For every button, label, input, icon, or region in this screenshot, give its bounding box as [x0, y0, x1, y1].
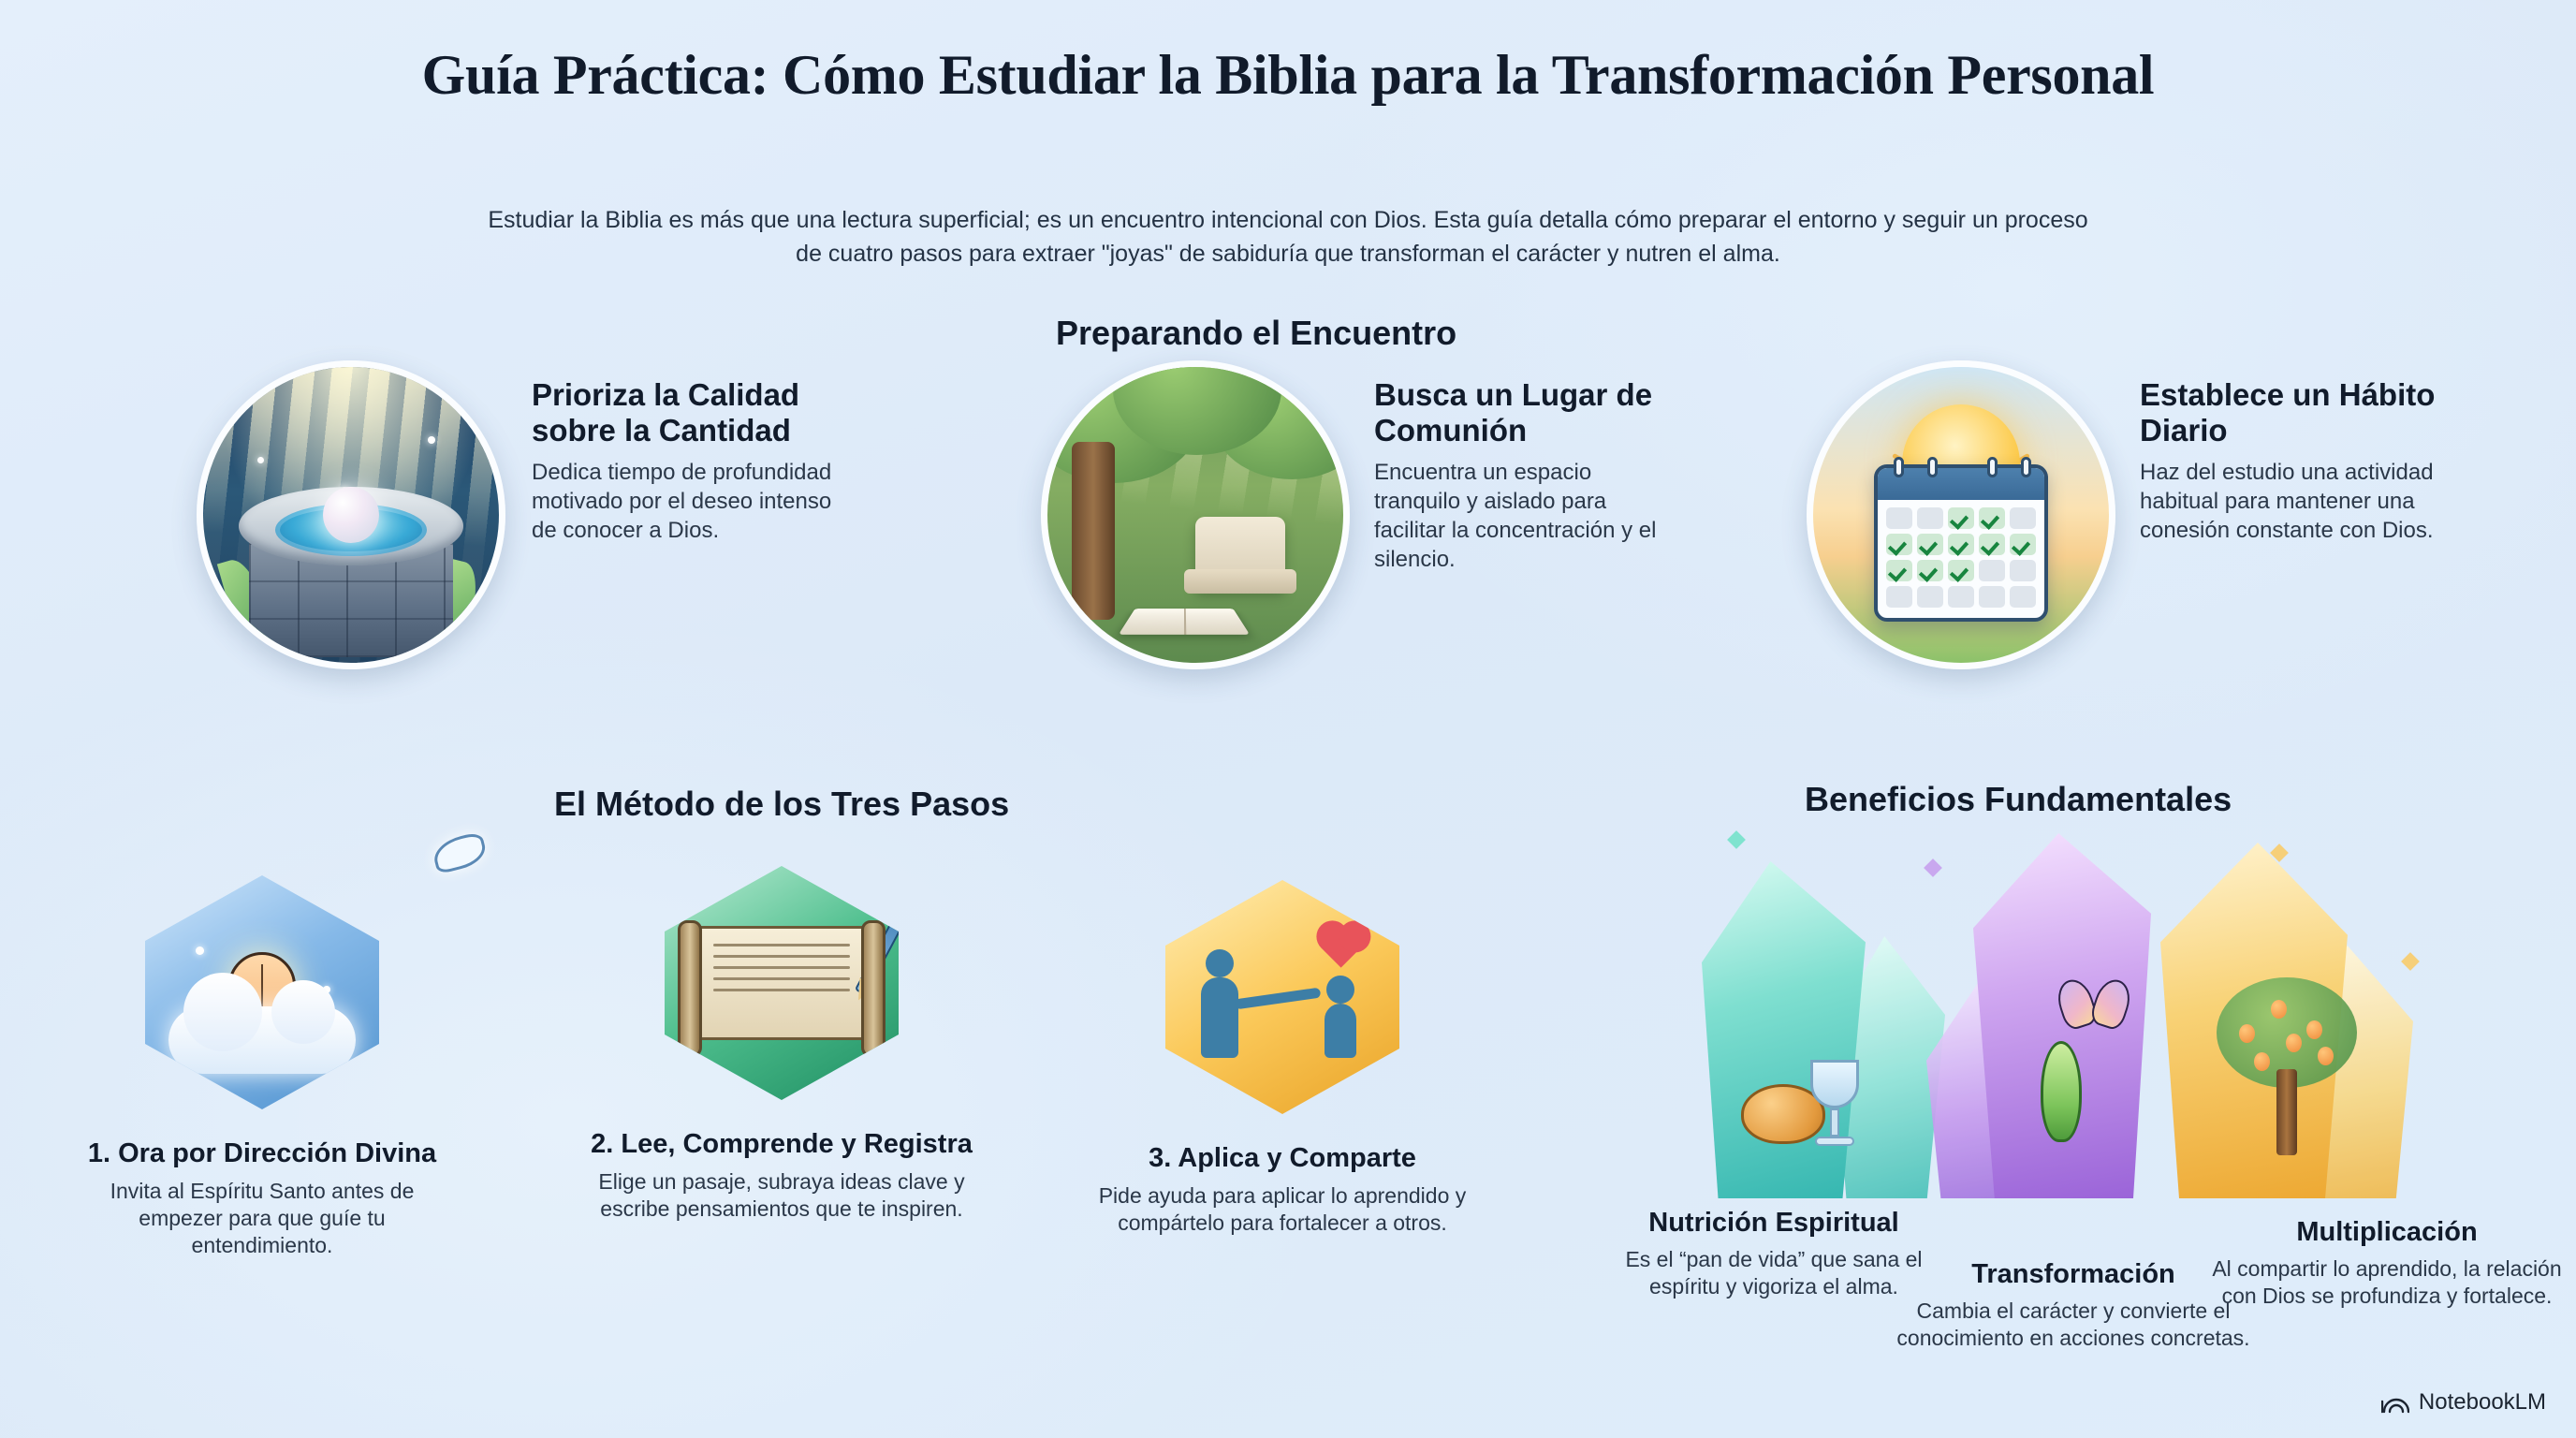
benefit-heading: Multiplicación [2209, 1217, 2565, 1249]
section-heading-preparation: Preparando el Encuentro [1056, 314, 1456, 353]
benefits-crystal-cluster-illustration [1692, 824, 2497, 1198]
praying-hands-dove-gem-icon [66, 852, 459, 1133]
method-step-1: 1. Ora por Dirección Divina Invita al Es… [66, 852, 459, 1259]
chrysalis-icon [2041, 1041, 2082, 1142]
preparation-card-habit: Establece un Hábito Diario Haz del estud… [1807, 360, 2458, 669]
notebooklm-watermark: NotebookLM [2381, 1389, 2546, 1416]
notebooklm-logo-icon [2381, 1390, 2409, 1415]
well-with-pearl-illustration [197, 360, 505, 669]
benefit-body: Cambia el carácter y convierte el conoci… [1891, 1298, 2256, 1352]
chalice-icon [1810, 1060, 1859, 1150]
card-body: Encuentra un espacio tranquilo y aislado… [1374, 458, 1674, 575]
step-body: Elige un pasaje, subraya ideas clave y e… [585, 1168, 978, 1223]
method-step-2: 2. Lee, Comprende y Registra Elige un pa… [585, 843, 978, 1223]
infographic-page: Guía Práctica: Cómo Estudiar la Biblia p… [0, 0, 2576, 1438]
benefit-transformacion: Transformación Cambia el carácter y conv… [1891, 1259, 2256, 1352]
page-subtitle: Estudiar la Biblia es más que una lectur… [483, 204, 2093, 271]
method-step-3: 3. Aplica y Comparte Pide ayuda para apl… [1086, 857, 1479, 1237]
section-heading-method: El Método de los Tres Pasos [554, 785, 1009, 824]
card-heading: Establece un Hábito Diario [2140, 377, 2458, 449]
card-heading: Busca un Lugar de Comunión [1374, 377, 1674, 449]
forest-chair-with-book-illustration [1041, 360, 1350, 669]
step-heading: 3. Aplica y Comparte [1086, 1143, 1479, 1175]
scroll-with-pen-gem-icon [585, 843, 978, 1123]
benefit-body: Al compartir lo aprendido, la relación c… [2209, 1255, 2565, 1310]
page-title: Guía Práctica: Cómo Estudiar la Biblia p… [0, 43, 2576, 108]
benefit-heading: Transformación [1891, 1259, 2256, 1291]
preparation-card-place: Busca un Lugar de Comunión Encuentra un … [1041, 360, 1674, 669]
card-heading: Prioriza la Calidad sobre la Cantidad [532, 377, 841, 449]
step-heading: 2. Lee, Comprende y Registra [585, 1129, 978, 1161]
step-heading: 1. Ora por Dirección Divina [66, 1138, 459, 1170]
calendar-widget [1874, 464, 2048, 622]
butterfly-icon [2059, 979, 2129, 1034]
watermark-label: NotebookLM [2419, 1389, 2546, 1416]
fruit-tree-icon [2217, 977, 2357, 1155]
section-heading-benefits: Beneficios Fundamentales [1805, 780, 2232, 819]
card-body: Dedica tiempo de profundidad motivado po… [532, 458, 841, 546]
heart-icon [1321, 925, 1363, 967]
card-body: Haz del estudio una actividad habitual p… [2140, 458, 2458, 546]
step-body: Pide ayuda para aplicar lo aprendido y c… [1086, 1182, 1479, 1237]
benefit-multiplicacion: Multiplicación Al compartir lo aprendido… [2209, 1217, 2565, 1310]
benefit-heading: Nutrición Espiritual [1591, 1208, 1956, 1240]
two-figures-heart-gem-icon [1086, 857, 1479, 1137]
preparation-card-quality: Prioriza la Calidad sobre la Cantidad De… [197, 360, 841, 669]
calendar-sunrise-illustration [1807, 360, 2115, 669]
step-body: Invita al Espíritu Santo antes de empeze… [66, 1178, 459, 1259]
